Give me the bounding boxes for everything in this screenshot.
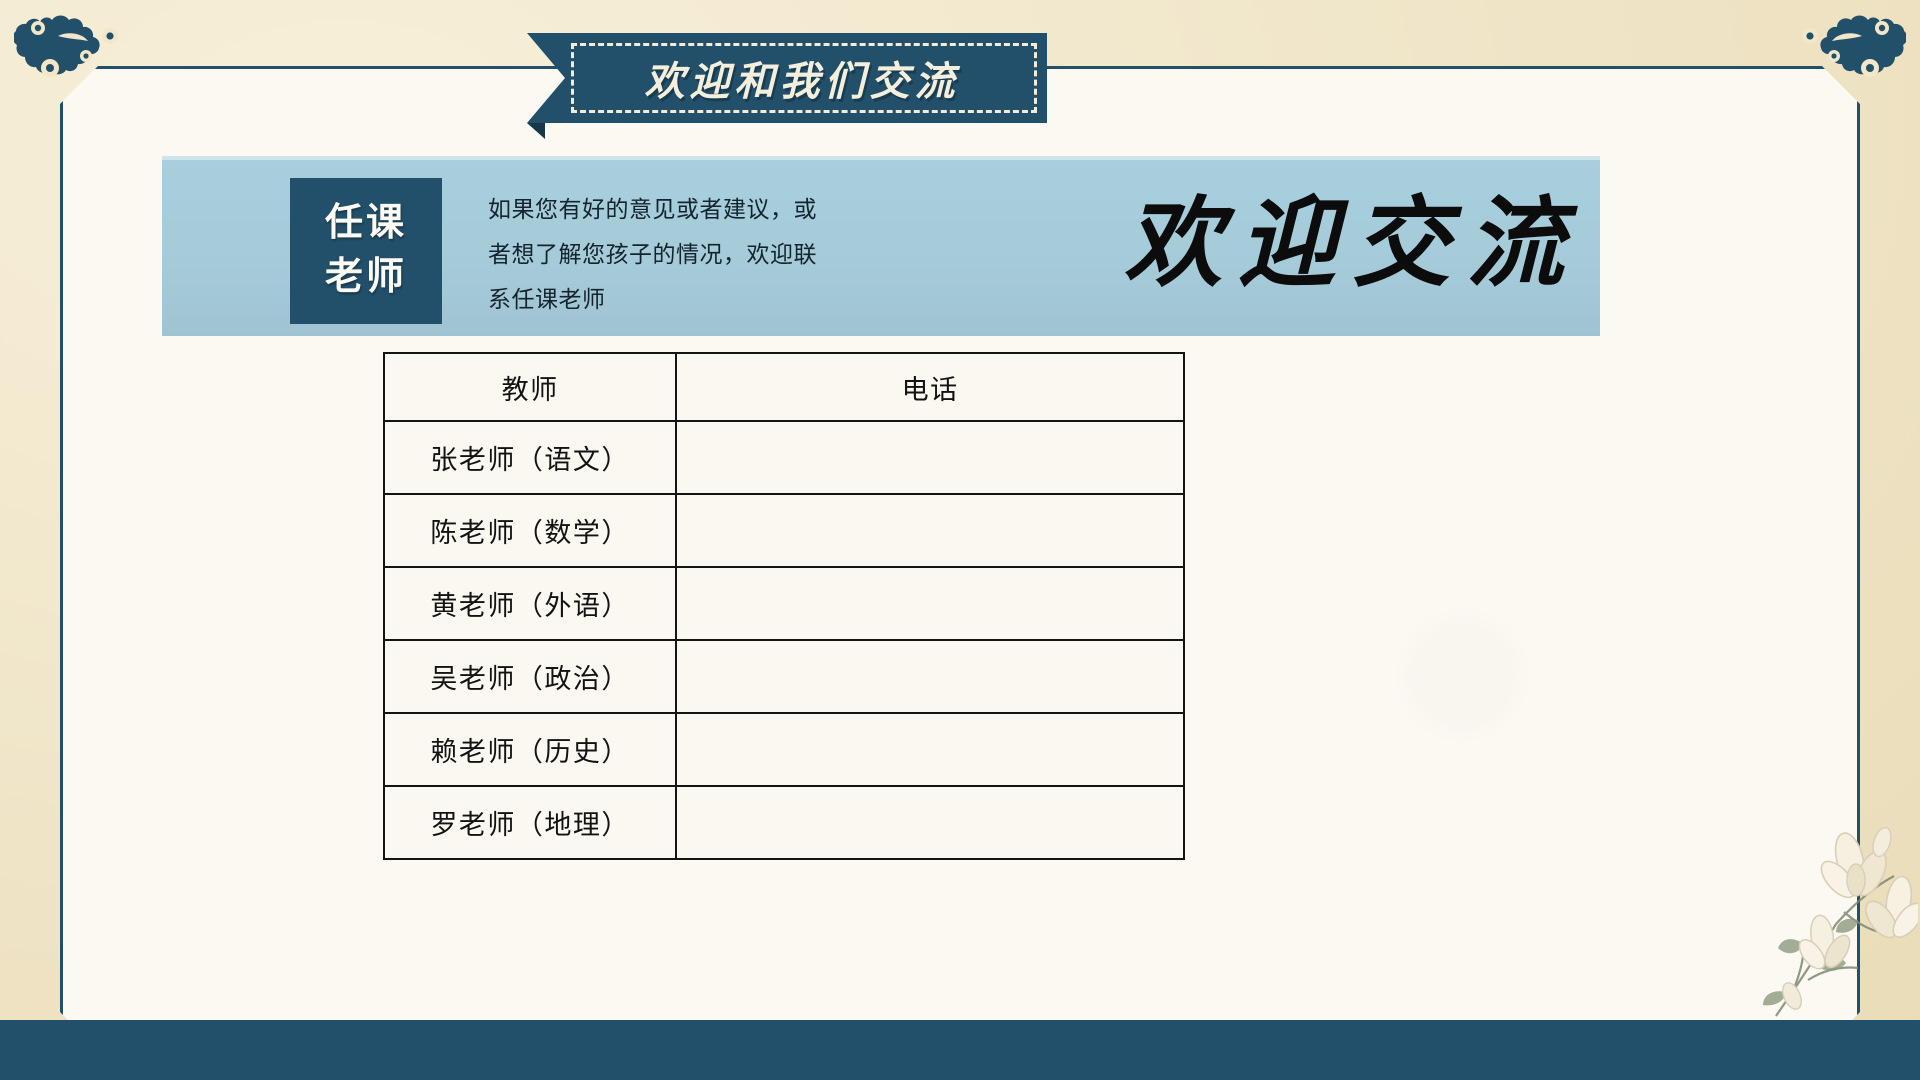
header-phone: 电话	[676, 353, 1184, 421]
info-band: 任课 老师 如果您有好的意见或者建议，或 者想了解您孩子的情况，欢迎联 系任课老…	[162, 156, 1600, 336]
paragraph-line-3: 系任课老师	[488, 278, 928, 323]
teacher-contact-table: 教师 电话 张老师（语文） 陈老师（数学） 黄老师（外语） 吴老师（政治）	[383, 352, 1185, 860]
cell-teacher: 张老师（语文）	[384, 421, 676, 494]
cell-phone[interactable]	[676, 567, 1184, 640]
cell-phone[interactable]	[676, 494, 1184, 567]
page-title: 欢迎和我们交流	[645, 49, 960, 107]
magnolia-flower-icon	[1658, 784, 1918, 1024]
paragraph-line-1: 如果您有好的意见或者建议，或	[488, 188, 928, 233]
bottom-accent-bar	[0, 1020, 1920, 1080]
cell-teacher: 赖老师（历史）	[384, 713, 676, 786]
slide-canvas: 欢迎和我们交流 任课 老师 如果您有好的意见或者建议，或 者想了解您孩子的情况，…	[0, 0, 1920, 1080]
ribbon-fold	[527, 123, 545, 139]
cell-teacher: 吴老师（政治）	[384, 640, 676, 713]
table-row: 张老师（语文）	[384, 421, 1184, 494]
table-row: 陈老师（数学）	[384, 494, 1184, 567]
header-teacher: 教师	[384, 353, 676, 421]
table-row: 罗老师（地理）	[384, 786, 1184, 859]
band-highlight-line	[162, 156, 1600, 160]
table-header-row: 教师 电话	[384, 353, 1184, 421]
cell-phone[interactable]	[676, 421, 1184, 494]
tag-line-2: 老师	[325, 251, 407, 305]
cell-teacher: 黄老师（外语）	[384, 567, 676, 640]
cell-teacher: 罗老师（地理）	[384, 786, 676, 859]
paragraph-line-2: 者想了解您孩子的情况，欢迎联	[488, 233, 928, 278]
title-ribbon: 欢迎和我们交流	[527, 33, 1047, 123]
cell-phone[interactable]	[676, 640, 1184, 713]
table-row: 黄老师（外语）	[384, 567, 1184, 640]
table-row: 吴老师（政治）	[384, 640, 1184, 713]
calligraphy-heading: 欢迎交流	[1124, 170, 1580, 320]
cell-phone[interactable]	[676, 786, 1184, 859]
cell-phone[interactable]	[676, 713, 1184, 786]
cell-teacher: 陈老师（数学）	[384, 494, 676, 567]
tag-line-1: 任课	[325, 197, 407, 251]
band-paragraph: 如果您有好的意见或者建议，或 者想了解您孩子的情况，欢迎联 系任课老师	[488, 188, 928, 323]
table-row: 赖老师（历史）	[384, 713, 1184, 786]
teacher-tag-box: 任课 老师	[290, 178, 442, 324]
